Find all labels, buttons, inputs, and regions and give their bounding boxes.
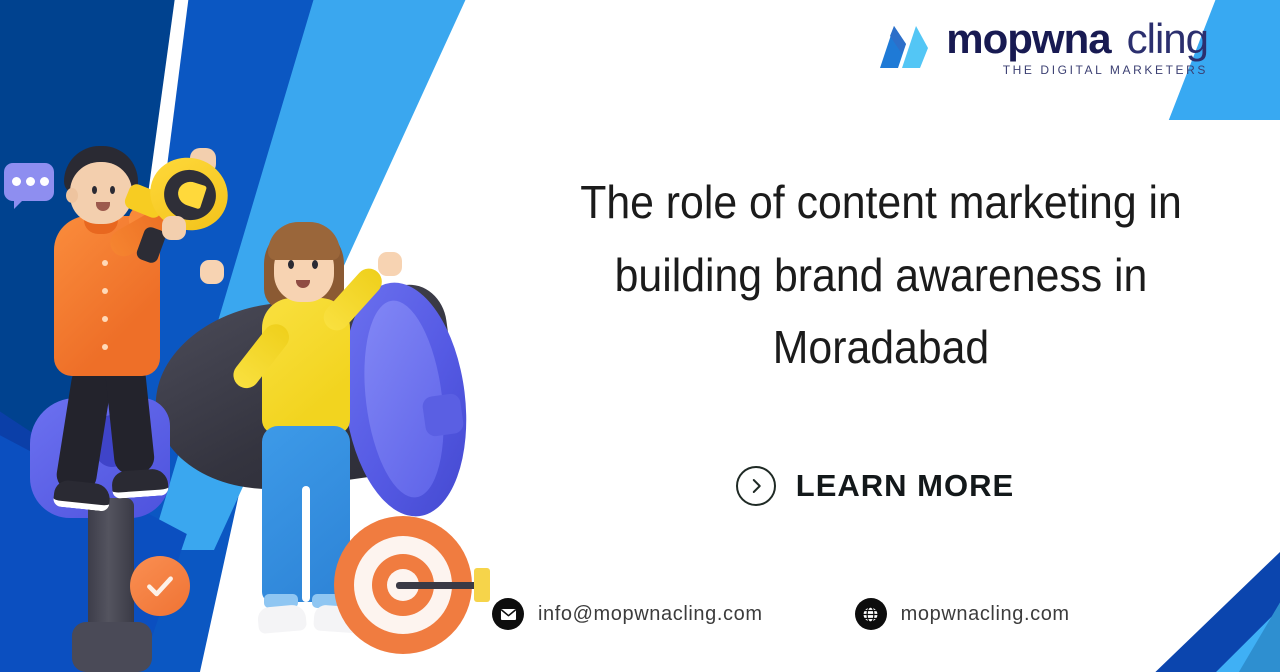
page-title: The role of content marketing in buildin… xyxy=(536,166,1226,384)
man-eye-right xyxy=(110,186,115,194)
contact-bar: info@mopwnacling.com mo xyxy=(492,598,1070,630)
woman-shoe-left xyxy=(257,604,307,634)
woman-eye-right xyxy=(312,260,318,269)
man-button-3 xyxy=(102,316,108,322)
contact-email[interactable]: info@mopwnacling.com xyxy=(492,598,763,630)
man-ear xyxy=(66,188,78,203)
learn-more-button[interactable]: LEARN MORE xyxy=(470,466,1280,506)
learn-more-label: LEARN MORE xyxy=(796,468,1014,504)
brand-tagline: THE DIGITAL MARKETERS xyxy=(946,63,1208,77)
m-logo-icon xyxy=(876,20,932,76)
contact-website[interactable]: mopwnacling.com xyxy=(855,598,1070,630)
woman-hair-top xyxy=(268,222,340,260)
man-character xyxy=(40,140,250,540)
brand-word-primary: mopwna xyxy=(946,18,1110,60)
brand-logo[interactable]: mopwna cling THE DIGITAL MARKETERS xyxy=(876,18,1208,77)
man-button-4 xyxy=(102,344,108,350)
brand-wordmark: mopwna cling THE DIGITAL MARKETERS xyxy=(946,18,1208,77)
headline-line-3: Moradabad xyxy=(536,311,1226,384)
3d-marketing-team-illustration xyxy=(0,0,520,672)
headline-line-2: building brand awareness in xyxy=(536,239,1226,312)
woman-leg-gap xyxy=(302,486,310,602)
megaphone-knob xyxy=(421,393,464,438)
man-leg-left xyxy=(54,364,113,495)
megaphone-stand-foot xyxy=(72,622,152,672)
content-area: mopwna cling THE DIGITAL MARKETERS The r… xyxy=(470,0,1280,672)
man-head xyxy=(70,162,132,224)
globe-icon xyxy=(855,598,887,630)
marketing-banner: mopwna cling THE DIGITAL MARKETERS The r… xyxy=(0,0,1280,672)
man-button-1 xyxy=(102,260,108,266)
target-dartboard-icon xyxy=(334,516,472,654)
brand-word-secondary: cling xyxy=(1127,18,1208,60)
man-leg-right xyxy=(104,360,155,476)
woman-fist-right xyxy=(378,252,402,276)
contact-email-text: info@mopwnacling.com xyxy=(538,603,763,626)
woman-eye-left xyxy=(288,260,294,269)
man-eye-left xyxy=(92,186,97,194)
man-hand xyxy=(162,216,186,240)
man-shoe-right xyxy=(111,468,169,499)
headline-line-1: The role of content marketing in xyxy=(536,166,1226,239)
man-button-2 xyxy=(102,288,108,294)
envelope-icon xyxy=(492,598,524,630)
check-badge-icon xyxy=(130,556,190,616)
contact-website-text: mopwnacling.com xyxy=(901,603,1070,626)
man-shoe-left xyxy=(53,479,112,512)
chevron-right-circle-icon xyxy=(736,466,776,506)
